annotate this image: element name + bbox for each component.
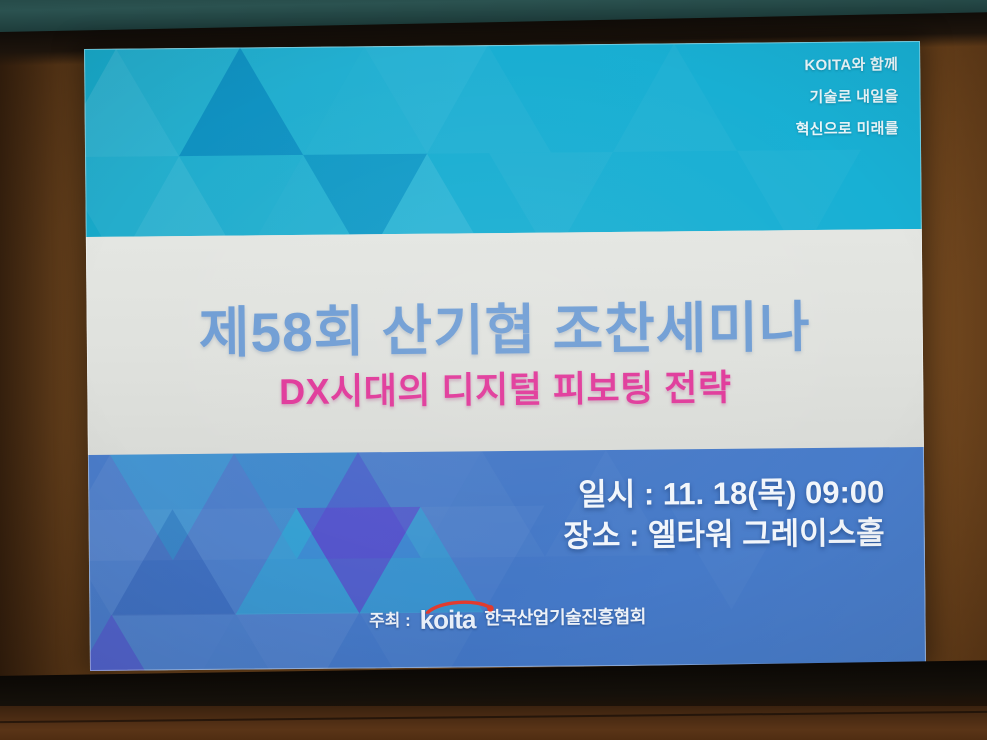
slide-info-band: 일시 : 11. 18(목) 09:00 장소 : 엘타워 그레이스홀 주최 :… (88, 447, 926, 671)
host-footer: 주최 : koita 한국산업기술진흥협회 (89, 597, 925, 637)
lower-wall (0, 706, 987, 740)
page-subtitle: DX시대의 디지털 피보팅 전략 (87, 357, 923, 417)
mosaic-triangle (737, 150, 862, 237)
slide-top-band: KOITA와 함께 기술로 내일을 혁신으로 미래를 (84, 41, 922, 237)
event-info: 일시 : 11. 18(목) 09:00 장소 : 엘타워 그레이스홀 (563, 471, 885, 556)
mosaic-triangle (612, 43, 737, 152)
host-label: 주최 : (369, 605, 411, 630)
tagline-line-1: KOITA와 함께 (795, 49, 898, 82)
event-datetime: 일시 : 11. 18(목) 09:00 (563, 471, 885, 515)
event-location: 장소 : 엘타워 그레이스홀 (563, 512, 885, 556)
koita-logo: koita (420, 601, 476, 634)
mosaic-triangle (489, 152, 614, 237)
koita-arc-icon (426, 600, 498, 614)
mosaic-triangle (420, 506, 545, 613)
mosaic-triangle (365, 153, 490, 237)
tagline-line-3: 혁신으로 미래를 (796, 113, 899, 146)
slide-title-band: 제58회 산기협 조찬세미나 DX시대의 디지털 피보팅 전략 (86, 229, 924, 455)
conference-room-photo: KOITA와 함께 기술로 내일을 혁신으로 미래를 제58회 산기협 조찬세미… (0, 0, 987, 740)
tagline-line-2: 기술로 내일을 (795, 81, 898, 114)
mosaic-triangle (426, 45, 551, 154)
page-title: 제58회 산기협 조찬세미나 (86, 281, 923, 369)
koita-tagline: KOITA와 함께 기술로 내일을 혁신으로 미래를 (795, 49, 899, 146)
projection-screen: KOITA와 함께 기술로 내일을 혁신으로 미래를 제58회 산기협 조찬세미… (84, 41, 926, 671)
host-organization: 한국산업기술진흥협회 (484, 603, 646, 631)
